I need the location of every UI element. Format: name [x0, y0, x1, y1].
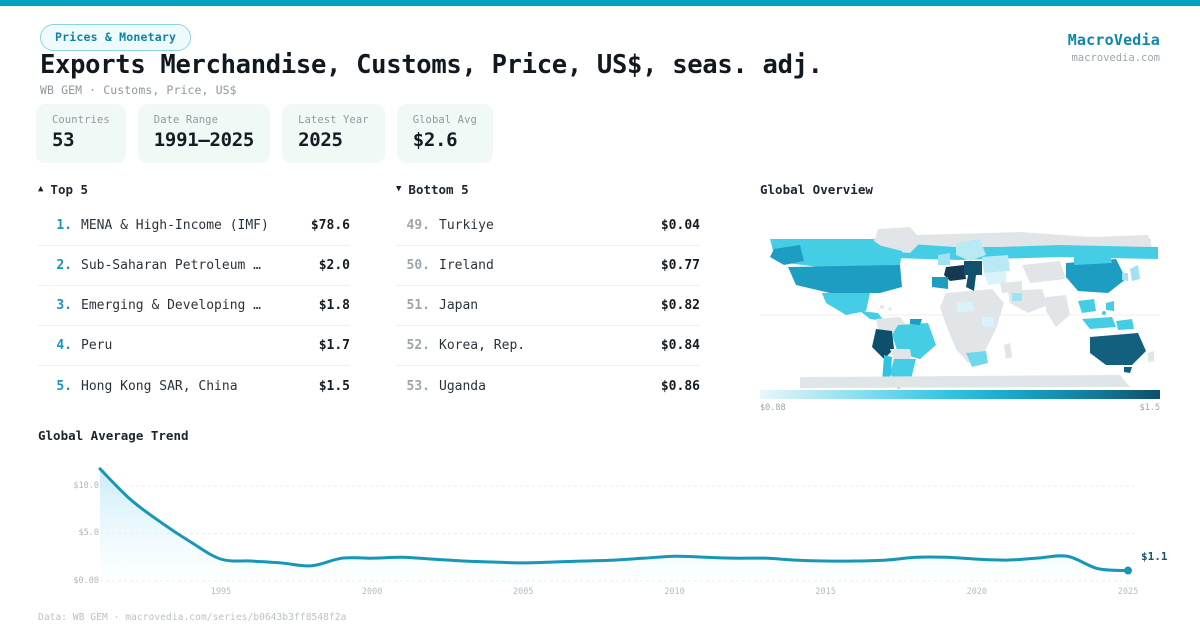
page-title: Exports Merchandise, Customs, Price, US$…: [40, 50, 823, 80]
list-item[interactable]: 5. Hong Kong SAR, China $1.5: [38, 366, 350, 406]
rank-name: Emerging & Developing …: [72, 298, 309, 313]
brand-name: MacroVedia: [1068, 32, 1160, 49]
map-color-legend: [760, 390, 1160, 399]
map-title: Global Overview: [760, 182, 1160, 197]
stat-cards: Countries 53 Date Range 1991–2025 Latest…: [36, 104, 493, 163]
y-axis-tick-label: $0.00: [73, 576, 99, 586]
rank-name: Peru: [72, 338, 309, 353]
top-5-list: 1. MENA & High-Income (IMF) $78.6 2. Sub…: [38, 206, 350, 406]
rank-name: Japan: [430, 298, 651, 313]
list-item[interactable]: 51. Japan $0.82: [396, 286, 700, 326]
trend-end-label: $1.1: [1141, 550, 1168, 563]
rank-number: 4.: [38, 338, 72, 353]
legend-min-label: $0.88: [760, 403, 786, 413]
x-axis-tick-label: 2025: [1118, 587, 1138, 597]
trend-end-point: [1124, 567, 1132, 575]
rank-value: $0.82: [651, 298, 700, 313]
category-pill[interactable]: Prices & Monetary: [40, 24, 191, 51]
list-item[interactable]: 2. Sub-Saharan Petroleum … $2.0: [38, 246, 350, 286]
stat-label: Latest Year: [298, 114, 369, 126]
rank-value: $0.86: [651, 379, 700, 394]
top-accent-bar: [0, 0, 1200, 6]
list-item[interactable]: 52. Korea, Rep. $0.84: [396, 326, 700, 366]
bottom-5-list: 49. Turkiye $0.04 50. Ireland $0.77 51. …: [396, 206, 700, 406]
list-item[interactable]: 50. Ireland $0.77: [396, 246, 700, 286]
stat-card-date-range: Date Range 1991–2025: [138, 104, 270, 163]
stat-value: 2025: [298, 129, 369, 151]
stat-value: $2.6: [413, 129, 477, 151]
stat-card-countries: Countries 53: [36, 104, 126, 163]
rank-name: MENA & High-Income (IMF): [72, 218, 301, 233]
trend-chart-svg: [38, 453, 1168, 603]
brand-url: macrovedia.com: [1068, 52, 1160, 64]
top-5-panel: ▲ Top 5 1. MENA & High-Income (IMF) $78.…: [38, 182, 350, 406]
footer-source: Data: WB GEM · macrovedia.com/series/b06…: [38, 612, 346, 623]
rank-value: $1.8: [309, 298, 350, 313]
rank-value: $0.77: [651, 258, 700, 273]
trend-line: [100, 469, 1128, 571]
rank-number: 5.: [38, 379, 72, 394]
bottom-5-panel: ▼ Bottom 5 49. Turkiye $0.04 50. Ireland…: [396, 182, 700, 406]
rank-value: $0.04: [651, 218, 700, 233]
rank-number: 51.: [396, 298, 430, 313]
rank-number: 52.: [396, 338, 430, 353]
rank-name: Ireland: [430, 258, 651, 273]
global-average-trend-panel: Global Average Trend $10.0$5.0$0.00 1995…: [38, 428, 1168, 603]
list-item[interactable]: 49. Turkiye $0.04: [396, 206, 700, 246]
world-choropleth-map[interactable]: $0.88 $1.5: [760, 207, 1160, 402]
trend-title: Global Average Trend: [38, 428, 1168, 443]
rank-name: Turkiye: [430, 218, 651, 233]
rank-name: Sub-Saharan Petroleum …: [72, 258, 309, 273]
rank-name: Korea, Rep.: [430, 338, 651, 353]
stat-label: Date Range: [154, 114, 254, 126]
x-axis-tick-label: 1995: [211, 587, 231, 597]
rank-number: 53.: [396, 379, 430, 394]
stat-label: Countries: [52, 114, 110, 126]
rank-value: $0.84: [651, 338, 700, 353]
rank-value: $78.6: [301, 218, 350, 233]
stat-label: Global Avg: [413, 114, 477, 126]
x-axis-tick-label: 2000: [362, 587, 382, 597]
list-item[interactable]: 4. Peru $1.7: [38, 326, 350, 366]
list-item[interactable]: 1. MENA & High-Income (IMF) $78.6: [38, 206, 350, 246]
rank-number: 49.: [396, 218, 430, 233]
stat-card-global-avg: Global Avg $2.6: [397, 104, 493, 163]
triangle-down-icon: ▼: [396, 185, 401, 194]
rank-number: 3.: [38, 298, 72, 313]
list-item[interactable]: 3. Emerging & Developing … $1.8: [38, 286, 350, 326]
x-axis-tick-label: 2010: [664, 587, 684, 597]
rank-name: Hong Kong SAR, China: [72, 379, 309, 394]
map-svg: [760, 207, 1160, 389]
trend-area: [100, 469, 1128, 581]
stat-card-latest-year: Latest Year 2025: [282, 104, 385, 163]
bottom-5-heading: ▼ Bottom 5: [396, 182, 700, 197]
list-item[interactable]: 53. Uganda $0.86: [396, 366, 700, 406]
bottom-5-heading-label: Bottom 5: [408, 182, 468, 197]
stat-value: 53: [52, 129, 110, 151]
x-axis-tick-label: 2020: [967, 587, 987, 597]
map-legend-labels: $0.88 $1.5: [760, 403, 1160, 413]
page-subtitle: WB GEM · Customs, Price, US$: [40, 83, 237, 97]
legend-max-label: $1.5: [1140, 403, 1160, 413]
top-5-heading: ▲ Top 5: [38, 182, 350, 197]
stat-value: 1991–2025: [154, 129, 254, 151]
x-axis-tick-label: 2015: [815, 587, 835, 597]
rank-value: $1.7: [309, 338, 350, 353]
rank-number: 50.: [396, 258, 430, 273]
trend-plot[interactable]: $10.0$5.0$0.00 1995200020052010201520202…: [38, 453, 1168, 603]
y-axis-tick-label: $5.0: [79, 528, 99, 538]
global-overview-panel: Global Overview: [760, 182, 1160, 402]
x-axis-tick-label: 2005: [513, 587, 533, 597]
triangle-up-icon: ▲: [38, 185, 43, 194]
rank-number: 1.: [38, 218, 72, 233]
top-5-heading-label: Top 5: [50, 182, 88, 197]
rank-value: $1.5: [309, 379, 350, 394]
brand: MacroVedia macrovedia.com: [1068, 32, 1160, 64]
y-axis-tick-label: $10.0: [73, 481, 99, 491]
rank-name: Uganda: [430, 379, 651, 394]
rank-number: 2.: [38, 258, 72, 273]
rank-value: $2.0: [309, 258, 350, 273]
